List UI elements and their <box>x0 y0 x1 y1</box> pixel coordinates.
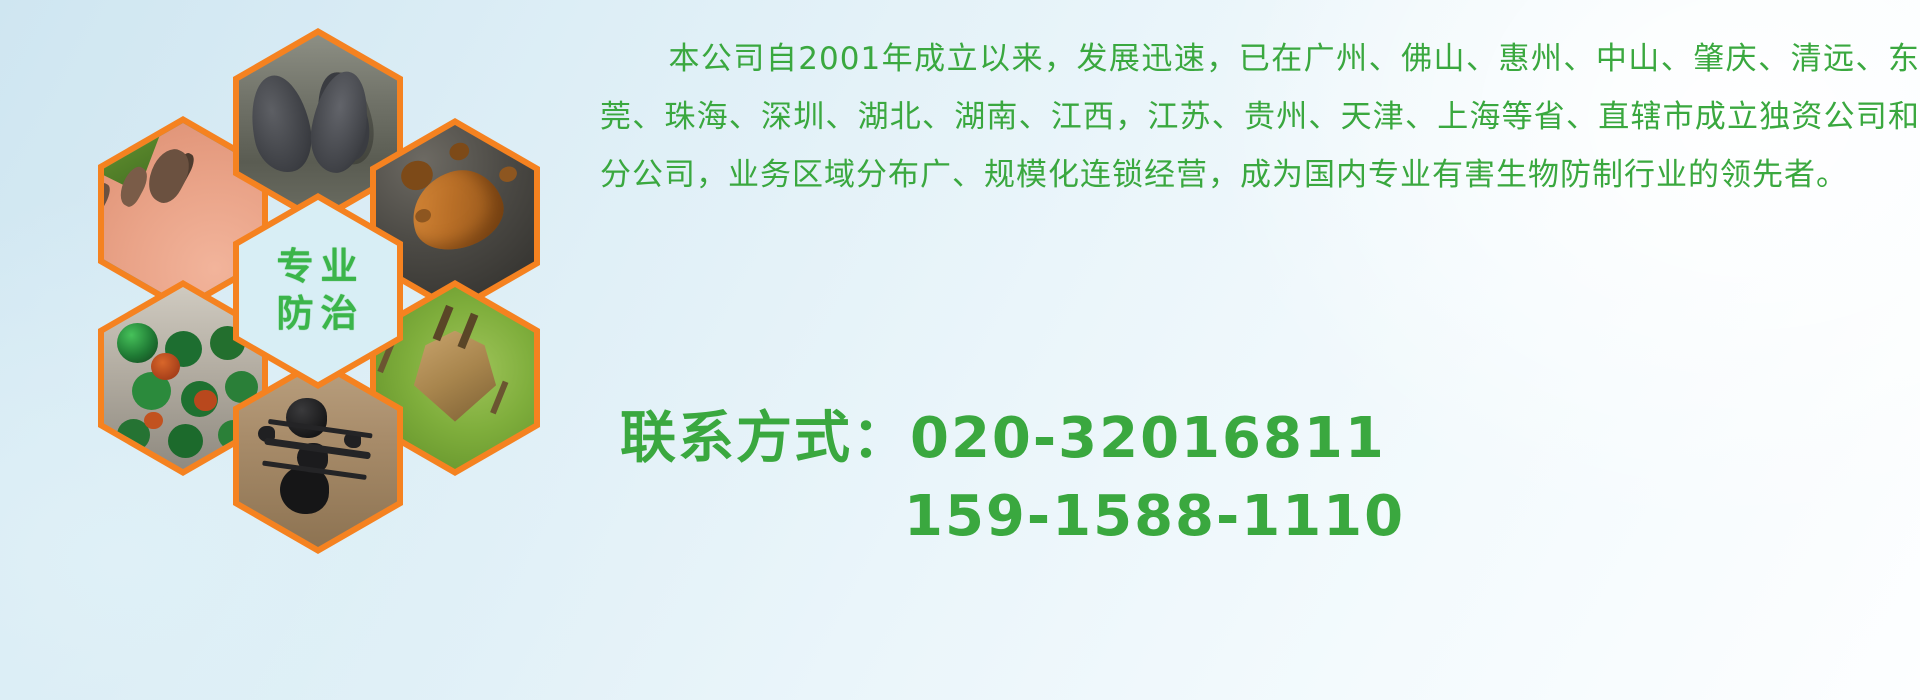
hex-badge-inner: 专业 防治 <box>239 200 397 382</box>
hex-badge-line1: 专业 <box>277 244 365 291</box>
hex-badge-line2: 防治 <box>277 291 365 338</box>
contact-phone-secondary[interactable]: 159-1588-1110 <box>904 484 1405 549</box>
intro-copy-block: 本公司自2001年成立以来，发展迅速，已在广州、佛山、惠州、中山、肇庆、清远、东… <box>600 30 1920 204</box>
contact-phone-primary[interactable]: 020-32016811 <box>910 406 1386 471</box>
intro-paragraph-text: 本公司自2001年成立以来，发展迅速，已在广州、佛山、惠州、中山、肇庆、清远、东… <box>600 41 1920 193</box>
hex-badge-label: 专业 防治 <box>272 244 365 337</box>
hex-photo-ant-inner <box>239 365 397 547</box>
contact-label: 联系方式： <box>620 406 910 471</box>
ant-icon <box>239 365 397 547</box>
contact-primary-line: 联系方式：020-32016811 <box>620 400 1920 478</box>
contact-secondary-line: 159-1588-1110 <box>620 478 1920 556</box>
banner-stage: 专业 防治 本公司自2001年成立以来，发展迅速，已在广州、佛山、惠州、中山、肇… <box>0 0 1920 700</box>
contact-block: 联系方式：020-32016811 159-1588-1110 <box>620 400 1920 556</box>
hexagon-photo-cluster: 专业 防治 <box>78 8 598 568</box>
intro-paragraph: 本公司自2001年成立以来，发展迅速，已在广州、佛山、惠州、中山、肇庆、清远、东… <box>600 30 1920 204</box>
